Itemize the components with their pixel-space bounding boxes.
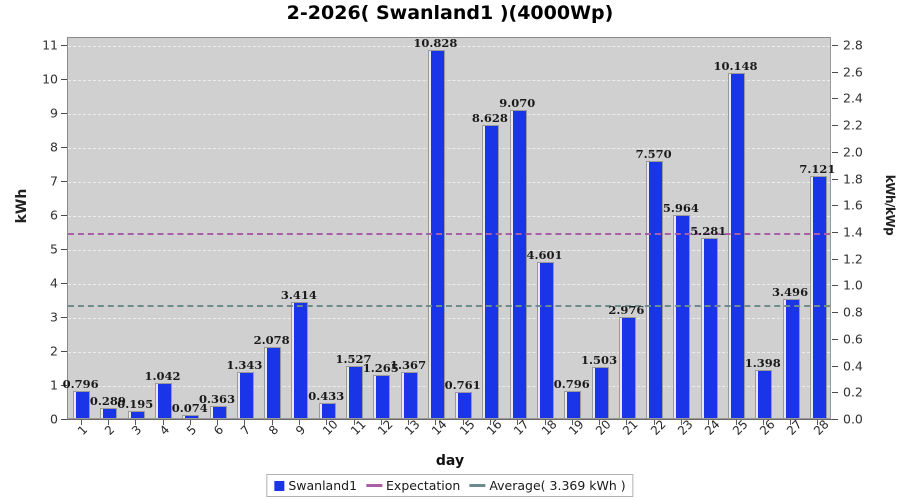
bar-highlight — [674, 216, 676, 418]
y-tick-mark-left — [61, 79, 67, 80]
bar[interactable] — [564, 391, 581, 418]
bar-value-label: 0.195 — [117, 397, 153, 411]
y-tick-label-left: 5 — [18, 242, 58, 257]
bar-highlight — [101, 409, 103, 418]
x-tick-label: 8 — [266, 423, 281, 438]
bar[interactable] — [619, 317, 636, 418]
x-tick-label: 17 — [511, 417, 532, 438]
y-tick-label-right: 0.6 — [843, 331, 883, 346]
bar-value-label: 2.078 — [254, 333, 290, 347]
x-tick-label: 24 — [702, 417, 723, 438]
bar-highlight — [156, 384, 158, 418]
x-tick-label: 22 — [648, 417, 669, 438]
y-tick-label-right: 0.8 — [843, 305, 883, 320]
bar-highlight — [402, 373, 404, 418]
y-tick-mark-right — [832, 419, 838, 420]
y-tick-label-left: 11 — [18, 38, 58, 53]
bar[interactable] — [73, 391, 90, 418]
bar-highlight — [702, 239, 704, 418]
bar-value-label: 3.496 — [772, 285, 808, 299]
y-tick-label-left: 10 — [18, 72, 58, 87]
y-tick-label-right: 0.4 — [843, 358, 883, 373]
bar-highlight — [811, 177, 813, 418]
bar-highlight — [593, 368, 595, 418]
y-tick-label-left: 3 — [18, 310, 58, 325]
y-tick-label-right: 1.8 — [843, 171, 883, 186]
bar[interactable] — [401, 372, 418, 418]
bar-highlight — [620, 318, 622, 418]
bar-highlight — [265, 348, 267, 418]
bar-highlight — [374, 376, 376, 418]
y-tick-label-right: 1.2 — [843, 251, 883, 266]
y-tick-label-left: 8 — [18, 140, 58, 155]
y-tick-label-left: 4 — [18, 276, 58, 291]
y-tick-mark-right — [832, 366, 838, 367]
bar-value-label: 0.363 — [199, 392, 235, 406]
bar-value-label: 1.503 — [581, 353, 617, 367]
bar-value-label: 1.343 — [226, 358, 262, 372]
bar-highlight — [211, 407, 213, 418]
y-tick-label-right: 0.0 — [843, 412, 883, 427]
bar[interactable] — [346, 366, 363, 418]
bar[interactable] — [510, 110, 527, 418]
y-tick-label-left: 0 — [18, 412, 58, 427]
x-tick-label: 26 — [757, 417, 778, 438]
y-tick-mark-right — [832, 179, 838, 180]
bar-highlight — [456, 393, 458, 418]
bar-value-label: 1.398 — [745, 356, 781, 370]
bar-highlight — [756, 371, 758, 418]
bar[interactable] — [237, 372, 254, 418]
y-tick-label-right: 2.0 — [843, 144, 883, 159]
bar-value-label: 9.070 — [499, 96, 535, 110]
bar[interactable] — [592, 367, 609, 418]
bar-value-label: 0.796 — [554, 377, 590, 391]
bar-value-label: 3.414 — [281, 288, 317, 302]
y-tick-label-right: 2.2 — [843, 118, 883, 133]
bar-highlight — [238, 373, 240, 418]
legend-label: Expectation — [386, 478, 460, 493]
y-tick-label-left: 2 — [18, 344, 58, 359]
x-tick-label: 4 — [157, 423, 172, 438]
y-tick-mark-left — [61, 249, 67, 250]
bar[interactable] — [783, 299, 800, 418]
bar-value-label: 10.828 — [413, 36, 457, 50]
chart-container: 2-2026( Swanland1 )(4000Wp) 012345678910… — [0, 0, 900, 500]
bar-value-label: 0.796 — [63, 377, 99, 391]
x-tick-label: 3 — [129, 423, 144, 438]
y-axis-left-label: kWh — [14, 176, 30, 236]
bar[interactable] — [182, 415, 199, 418]
y-tick-mark-right — [832, 392, 838, 393]
gridline — [68, 148, 830, 149]
bar[interactable] — [319, 403, 336, 418]
gridline — [68, 216, 830, 217]
bar-highlight — [483, 126, 485, 418]
y-tick-mark-right — [832, 125, 838, 126]
y-tick-label-right: 1.6 — [843, 198, 883, 213]
x-tick-label: 1 — [75, 423, 90, 438]
legend-item-average[interactable]: Average( 3.369 kWh ) — [469, 478, 625, 493]
bar-value-label: 5.281 — [690, 224, 726, 238]
bar-highlight — [129, 412, 131, 418]
x-tick-label: 15 — [457, 417, 478, 438]
bar-value-label: 7.121 — [799, 162, 835, 176]
bar[interactable] — [155, 383, 172, 418]
x-tick-label: 23 — [675, 417, 696, 438]
legend-label: Average( 3.369 kWh ) — [489, 478, 625, 493]
x-axis-line — [67, 419, 832, 420]
y-tick-mark-left — [61, 283, 67, 284]
chart-legend: Swanland1 Expectation Average( 3.369 kWh… — [266, 474, 633, 497]
chart-title: 2-2026( Swanland1 )(4000Wp) — [0, 2, 900, 24]
y-tick-label-right: 1.4 — [843, 225, 883, 240]
x-tick-label: 6 — [211, 423, 226, 438]
x-tick-label: 10 — [320, 417, 341, 438]
y-tick-mark-left — [61, 317, 67, 318]
y-tick-label-right: 2.8 — [843, 38, 883, 53]
legend-item-expectation[interactable]: Expectation — [366, 478, 460, 493]
bar[interactable] — [482, 125, 499, 418]
bar-value-label: 2.976 — [608, 303, 644, 317]
y-tick-label-right: 1.0 — [843, 278, 883, 293]
bar-value-label: 4.601 — [526, 248, 562, 262]
bar[interactable] — [210, 406, 227, 418]
x-tick-label: 12 — [375, 417, 396, 438]
y-tick-mark-left — [61, 215, 67, 216]
bar-highlight — [729, 74, 731, 418]
gridline — [68, 114, 830, 115]
bar-highlight — [538, 263, 540, 418]
bar[interactable] — [291, 302, 308, 418]
y-tick-mark-right — [832, 205, 838, 206]
x-tick-label: 19 — [566, 417, 587, 438]
gridline — [68, 182, 830, 183]
bar[interactable] — [728, 73, 745, 418]
x-tick-label: 14 — [429, 417, 450, 438]
y-tick-mark-right — [832, 312, 838, 313]
y-tick-label-right: 2.4 — [843, 91, 883, 106]
x-tick-label: 18 — [539, 417, 560, 438]
x-tick-label: 13 — [402, 417, 423, 438]
y-tick-mark-right — [832, 45, 838, 46]
legend-dash-icon — [469, 484, 485, 487]
bar-highlight — [565, 392, 567, 418]
bar-value-label: 0.761 — [445, 378, 481, 392]
bar-value-label: 0.433 — [308, 389, 344, 403]
bar[interactable] — [455, 392, 472, 418]
x-tick-label: 7 — [238, 423, 253, 438]
y-tick-mark-left — [61, 113, 67, 114]
bar[interactable] — [646, 161, 663, 418]
y-tick-mark-right — [832, 259, 838, 260]
y-axis-right-label: kWh/kWp — [883, 165, 897, 245]
bar-highlight — [784, 300, 786, 418]
x-tick-label: 16 — [484, 417, 505, 438]
bar[interactable] — [673, 215, 690, 418]
bar-highlight — [647, 162, 649, 418]
y-tick-mark-left — [61, 147, 67, 148]
y-tick-mark-right — [832, 285, 838, 286]
bar[interactable] — [701, 238, 718, 418]
legend-dash-icon — [366, 484, 382, 487]
y-tick-label-right: 2.6 — [843, 64, 883, 79]
y-tick-mark-right — [832, 98, 838, 99]
bar-highlight — [74, 392, 76, 418]
y-tick-label-left: 9 — [18, 106, 58, 121]
bar[interactable] — [537, 262, 554, 418]
x-axis-label: day — [0, 453, 900, 469]
bar-highlight — [292, 303, 294, 418]
y-tick-mark-left — [61, 45, 67, 46]
bar-value-label: 8.628 — [472, 111, 508, 125]
bar-highlight — [183, 416, 185, 418]
y-tick-mark-left — [61, 351, 67, 352]
y-tick-mark-right — [832, 152, 838, 153]
y-tick-label-right: 0.2 — [843, 385, 883, 400]
y-tick-label-left: 1 — [18, 378, 58, 393]
x-tick-label: 9 — [293, 423, 308, 438]
x-tick-label: 25 — [730, 417, 751, 438]
bar-value-label: 10.148 — [713, 59, 757, 73]
bar[interactable] — [264, 347, 281, 418]
bar-value-label: 7.570 — [636, 147, 672, 161]
bar[interactable] — [755, 370, 772, 418]
x-tick-label: 11 — [348, 417, 369, 438]
legend-label: Swanland1 — [288, 478, 357, 493]
bar-value-label: 1.367 — [390, 358, 426, 372]
bar-value-label: 5.964 — [663, 201, 699, 215]
average-line — [68, 305, 830, 307]
y-tick-mark-right — [832, 339, 838, 340]
x-tick-label: 5 — [184, 423, 199, 438]
legend-item-swanland1[interactable]: Swanland1 — [274, 478, 357, 493]
x-tick-label: 28 — [811, 417, 832, 438]
bar[interactable] — [128, 411, 145, 418]
y-tick-mark-left — [61, 181, 67, 182]
x-tick-label: 20 — [593, 417, 614, 438]
bar-value-label: 1.042 — [144, 369, 180, 383]
x-tick-label: 21 — [620, 417, 641, 438]
bar-highlight — [347, 367, 349, 418]
x-tick-label: 2 — [102, 423, 117, 438]
bar[interactable] — [100, 408, 117, 418]
y-tick-mark-right — [832, 72, 838, 73]
gridline — [68, 80, 830, 81]
bar[interactable] — [373, 375, 390, 418]
bar[interactable] — [810, 176, 827, 418]
x-tick-label: 27 — [784, 417, 805, 438]
legend-swatch-icon — [274, 481, 284, 491]
bar-highlight — [511, 111, 513, 418]
y-tick-mark-right — [832, 232, 838, 233]
bar-highlight — [320, 404, 322, 418]
